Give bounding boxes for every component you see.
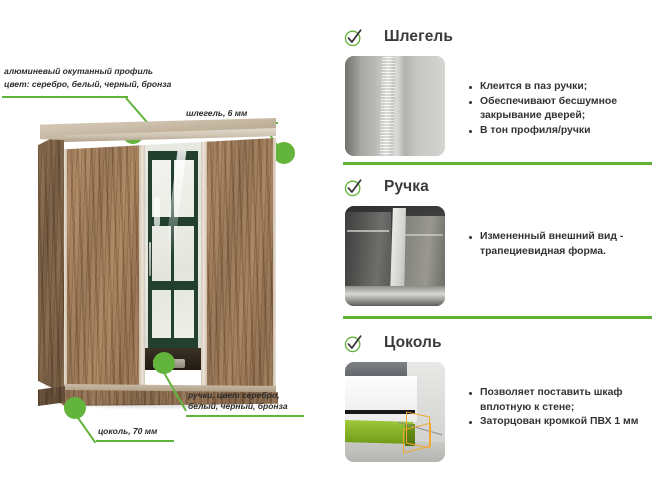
check-circle-icon [343,177,364,198]
bullet-item: Обеспечивают бесшумное закрывание дверей… [467,95,652,124]
bullet-item: Позволяет поставить шкаф вплотную к стен… [467,386,652,415]
bullet-item: Измененный внешний вид - трапециевидная … [467,230,652,259]
feature-header-shlegel: Шлегель [330,22,652,52]
section-divider-1 [343,162,652,165]
callout-profile-line1: алюминевый окутанный профиль [4,66,153,78]
feature-header-handle: Ручка [330,172,652,202]
door-left-wood-surface [64,138,142,386]
feature-section-shlegel: Шлегель Клеится в паз ручки; Обеспечиваю… [330,22,652,156]
mirror-glare-secondary [154,197,160,227]
feature-title-shlegel: Шлегель [384,28,453,46]
slide-root: алюминевый окутанный профиль цвет: сереб… [0,0,652,500]
callout-profile-line2: цвет: серебро, белый, черный, бронза [4,79,171,91]
door-mirror-edge-left [142,138,145,386]
feature-body-handle: Измененный внешний вид - трапециевидная … [330,206,652,306]
wardrobe-door-left [64,138,142,386]
feature-bullets-plinth: Позволяет поставить шкаф вплотную к стен… [467,386,652,430]
brush-seal-strip [380,56,396,156]
cabinet-shadow-gap [345,410,415,414]
mirror-reflection-frame-right [194,151,197,347]
door-right-edge-right [273,138,276,386]
check-circle-icon [343,27,364,48]
feature-title-plinth: Цоколь [384,334,442,352]
section-divider-2 [343,316,652,319]
wardrobe-door-right [204,138,276,386]
bullet-item: Клеится в паз ручки; [467,80,652,95]
wardrobe-door-row [64,138,276,386]
callout-plinth-rule [96,440,174,442]
features-pane: Шлегель Клеится в паз ручки; Обеспечиваю… [330,0,652,500]
feature-section-handle: Ручка Измененный внешний вид - трапециев… [330,172,652,306]
shlegel-seal-photo [345,56,445,156]
plinth-green-photo [345,362,445,462]
photo-shadow-band [345,56,361,156]
wardrobe-panel-dark [345,212,391,292]
feature-body-shlegel: Клеится в паз ручки; Обеспечивают бесшум… [330,56,652,156]
mirror-panel [145,142,201,370]
feature-header-plinth: Цоколь [330,328,652,358]
wardrobe-illustration-pane: алюминевый окутанный профиль цвет: сереб… [0,0,330,500]
feature-title-handle: Ручка [384,178,429,196]
door-right-wood-surface [204,138,276,386]
callout-handles-line2: белый, черный, бронза [188,401,288,413]
feature-bullets-handle: Измененный внешний вид - трапециевидная … [467,230,652,259]
wardrobe-panel-light [401,216,445,290]
callout-handles-line1: ручки, цвет серебро, [188,390,279,402]
bottom-rail [345,286,445,306]
feature-bullets-shlegel: Клеится в паз ручки; Обеспечивают бесшум… [467,80,652,138]
bullet-item: Заторцован кромкой ПВХ 1 мм [467,415,652,430]
wardrobe-door-mirror [142,138,204,386]
feature-section-plinth: Цоколь Позволяет поставить шкаф вплотну [330,328,652,462]
feature-body-plinth: Позволяет поставить шкаф вплотную к стен… [330,362,652,462]
callout-plinth-leader [75,414,96,443]
callout-profile-rule [2,96,128,98]
check-circle-icon [343,333,364,354]
door-right-edge-left [204,138,207,386]
bullet-item: В тон профиля/ручки [467,124,652,139]
panel-seam-left [347,230,389,232]
door-left-edge-left [64,138,67,386]
wardrobe-side-panel [38,132,64,394]
mirror-door-handle [149,242,151,276]
panel-seam-right [403,234,443,236]
callout-handles-rule [186,415,304,417]
mirror-reflection-mullion-h2 [148,281,197,290]
callout-plinth-line1: цоколь, 70 мм [98,426,157,438]
handle-profile-photo [345,206,445,306]
